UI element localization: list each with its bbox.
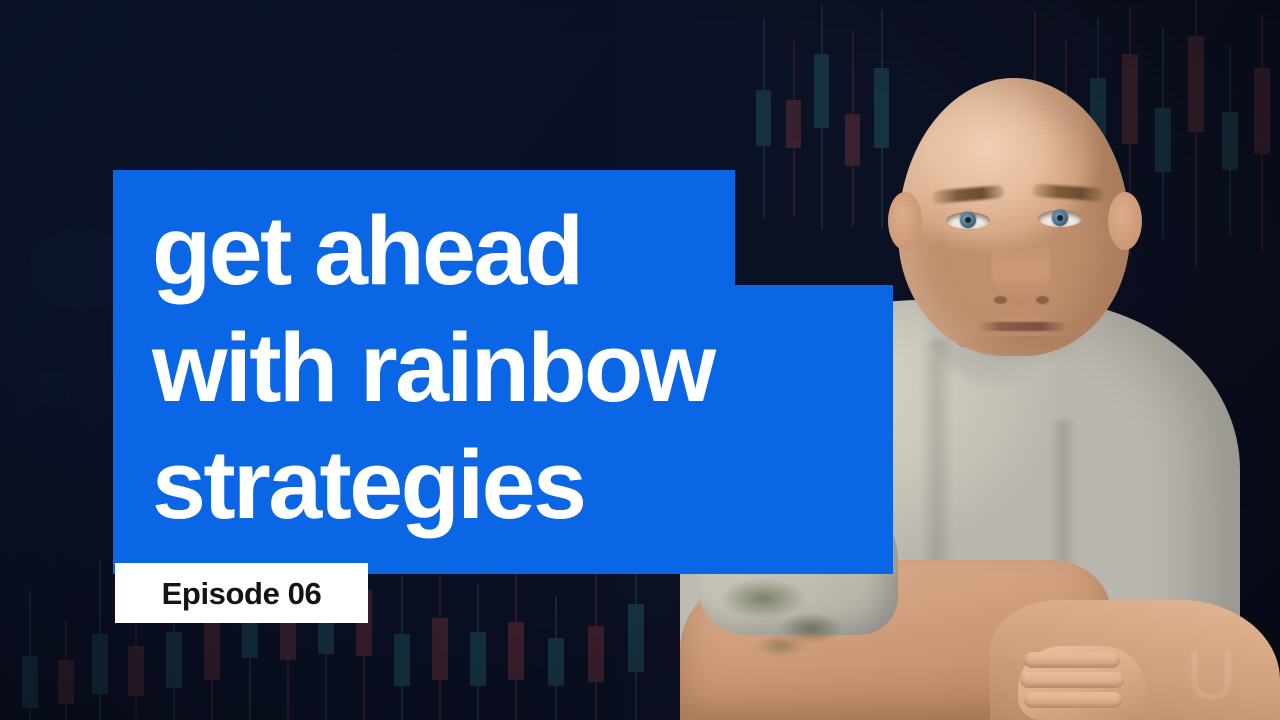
presenter-nose — [992, 228, 1050, 304]
presenter-finger-1 — [1024, 652, 1120, 668]
thumbnail-canvas: get ahead with rainbow strategies Episod… — [0, 0, 1280, 720]
presenter-ear-right — [1108, 192, 1142, 250]
presenter-finger-3 — [1024, 692, 1122, 708]
presenter-pupil-left — [965, 217, 971, 223]
headline-line-3: strategies — [152, 426, 912, 543]
presenter-mouth — [978, 322, 1068, 331]
headline-line-1: get ahead — [152, 192, 912, 309]
presenter-chin-shadow — [960, 336, 1088, 366]
presenter-finger-2 — [1020, 672, 1124, 688]
headline-text: get ahead with rainbow strategies — [152, 192, 912, 543]
presenter-arm-tattoo — [718, 560, 868, 670]
episode-badge: Episode 06 — [115, 563, 368, 623]
presenter-nostril-left — [994, 296, 1007, 304]
headline-line-2: with rainbow — [152, 309, 912, 426]
presenter-nostril-right — [1036, 296, 1049, 304]
episode-badge-label: Episode 06 — [162, 578, 322, 609]
presenter-pupil-right — [1057, 215, 1063, 221]
watermark-logo: U — [1186, 640, 1237, 710]
